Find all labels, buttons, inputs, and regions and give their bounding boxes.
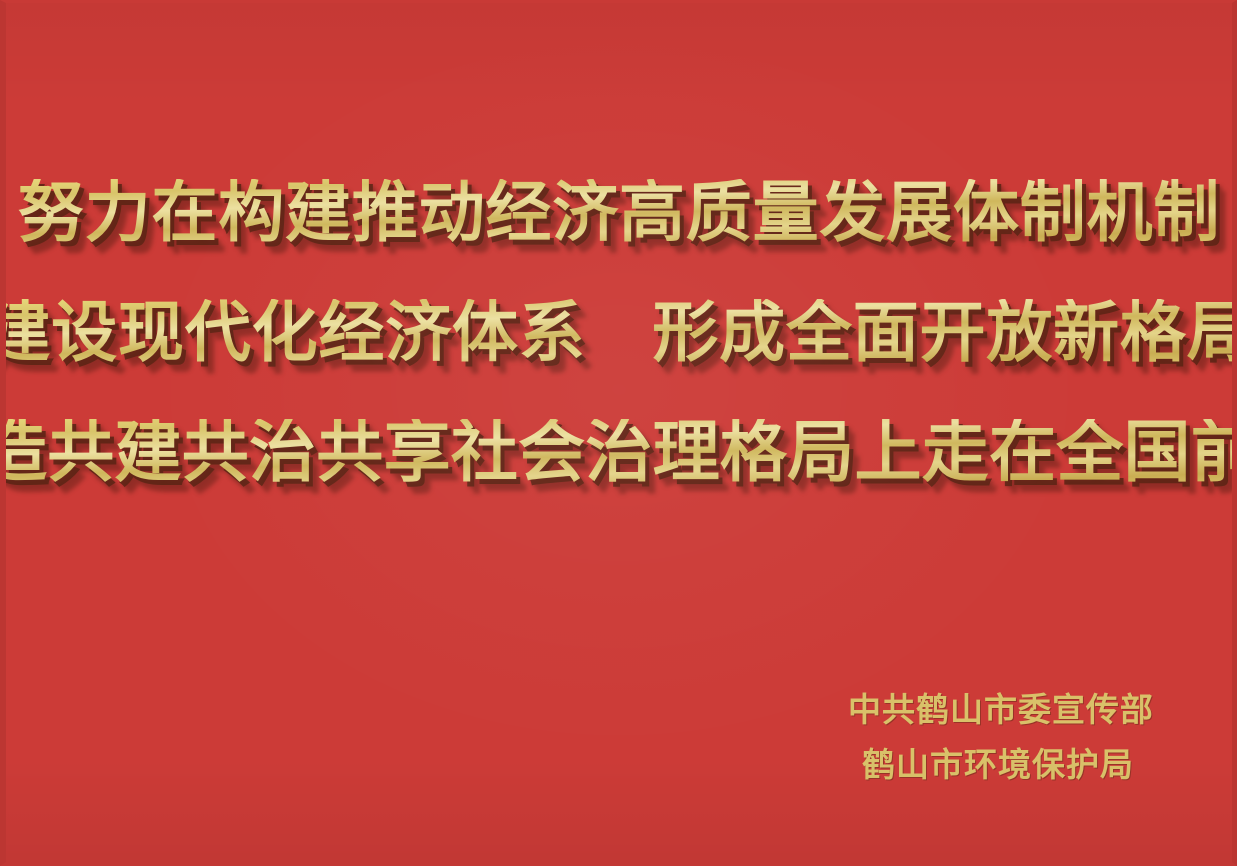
headline-line-1: 努力在构建推动经济高质量发展体制机制 xyxy=(18,179,1220,245)
signature-block: 中共鹤山市委宣传部 鹤山市环境保护局 xyxy=(848,695,1148,783)
headline-line-3: 营造共建共治共享社会治理格局上走在全国前列 xyxy=(0,419,1237,486)
signature-line-organization: 中共鹤山市委宣传部 xyxy=(848,695,1148,728)
headline-block: 努力在构建推动经济高质量发展体制机制 建设现代化经济体系 形成全面开放新格局 营… xyxy=(6,179,1232,486)
signature-line-bureau: 鹤山市环境保护局 xyxy=(848,750,1148,783)
propaganda-banner: 努力在构建推动经济高质量发展体制机制 建设现代化经济体系 形成全面开放新格局 营… xyxy=(0,0,1237,866)
headline-line-2: 建设现代化经济体系 形成全面开放新格局 xyxy=(0,299,1237,365)
